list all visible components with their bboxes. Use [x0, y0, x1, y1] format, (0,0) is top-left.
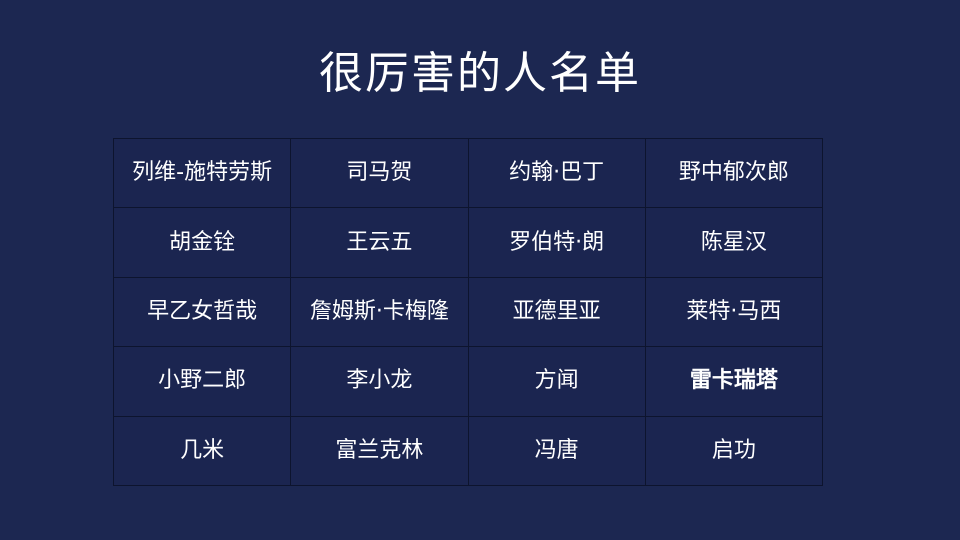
page-title: 很厉害的人名单: [0, 46, 960, 102]
table-cell: 雷卡瑞塔: [645, 347, 822, 416]
table-cell: 方闻: [468, 347, 645, 416]
names-table-body: 列维-施特劳斯司马贺约翰·巴丁野中郁次郎胡金铨王云五罗伯特·朗陈星汉早乙女哲哉詹…: [114, 139, 823, 486]
table-cell: 陈星汉: [645, 208, 822, 277]
table-cell: 富兰克林: [291, 416, 468, 485]
table-cell: 几米: [114, 416, 291, 485]
table-row: 胡金铨王云五罗伯特·朗陈星汉: [114, 208, 823, 277]
table-cell: 列维-施特劳斯: [114, 139, 291, 208]
table-cell: 王云五: [291, 208, 468, 277]
table-cell: 罗伯特·朗: [468, 208, 645, 277]
table-cell: 李小龙: [291, 347, 468, 416]
table-cell: 胡金铨: [114, 208, 291, 277]
table-cell: 早乙女哲哉: [114, 277, 291, 346]
table-cell: 莱特·马西: [645, 277, 822, 346]
table-cell: 约翰·巴丁: [468, 139, 645, 208]
names-table: 列维-施特劳斯司马贺约翰·巴丁野中郁次郎胡金铨王云五罗伯特·朗陈星汉早乙女哲哉詹…: [113, 138, 823, 486]
table-row: 列维-施特劳斯司马贺约翰·巴丁野中郁次郎: [114, 139, 823, 208]
table-row: 几米富兰克林冯唐启功: [114, 416, 823, 485]
table-cell: 启功: [645, 416, 822, 485]
slide-root: 很厉害的人名单 列维-施特劳斯司马贺约翰·巴丁野中郁次郎胡金铨王云五罗伯特·朗陈…: [0, 0, 960, 540]
table-cell: 野中郁次郎: [645, 139, 822, 208]
table-cell: 小野二郎: [114, 347, 291, 416]
table-cell: 司马贺: [291, 139, 468, 208]
table-row: 早乙女哲哉詹姆斯·卡梅隆亚德里亚莱特·马西: [114, 277, 823, 346]
table-cell: 冯唐: [468, 416, 645, 485]
table-cell: 亚德里亚: [468, 277, 645, 346]
table-cell: 詹姆斯·卡梅隆: [291, 277, 468, 346]
table-row: 小野二郎李小龙方闻雷卡瑞塔: [114, 347, 823, 416]
